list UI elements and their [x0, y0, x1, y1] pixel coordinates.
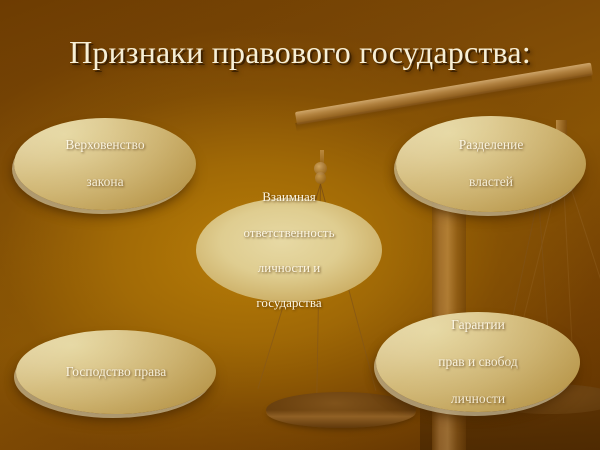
bubble-supremacy-of-law[interactable]: Верховенство закона — [14, 118, 196, 210]
bubble-supremacy-of-law-label: Верховенство закона — [14, 136, 196, 191]
bubble-guarantee-of-rights-label: Гарантии прав и свобод личности — [376, 316, 580, 408]
bubble-rule-of-law[interactable]: Господство права — [16, 330, 216, 414]
balance-beam-icon — [295, 63, 593, 125]
bubble-guarantee-of-rights[interactable]: Гарантии прав и свобод личности — [376, 312, 580, 412]
pivot-knot-lower-icon — [315, 172, 326, 184]
bubble-mutual-responsibility-label: Взаимная ответственность личности и госу… — [196, 188, 382, 312]
bubble-separation-of-powers[interactable]: Разделение властей — [396, 116, 586, 212]
bubble-separation-of-powers-label: Разделение властей — [396, 136, 586, 191]
bubble-rule-of-law-label: Господство права — [16, 363, 216, 381]
bubble-mutual-responsibility[interactable]: Взаимная ответственность личности и госу… — [196, 198, 382, 302]
page-title: Признаки правового государства: — [0, 34, 600, 71]
slide-canvas: Признаки правового государства: Верховен… — [0, 0, 600, 450]
